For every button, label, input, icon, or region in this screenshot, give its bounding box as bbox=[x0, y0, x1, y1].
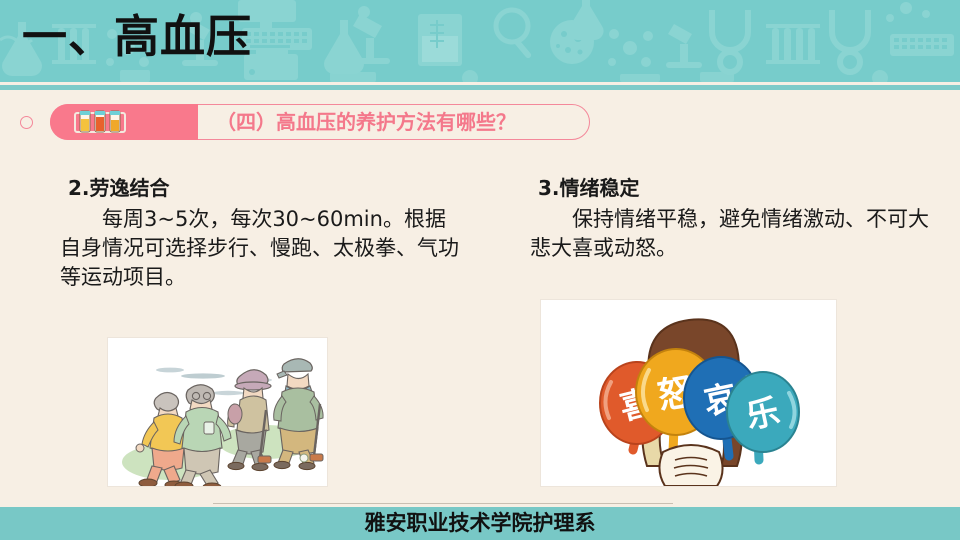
emotion-balloons-illustration: 喜 怒 哀 乐 bbox=[541, 300, 836, 486]
slide-canvas: 一、高血压 （四）高血压的养护方法有哪些？ 2.劳逸结合 每周3~5次，每次30… bbox=[0, 0, 960, 540]
content-column-left: 2.劳逸结合 每周3~5次，每次30~60min。根据自身情况可选择步行、慢跑、… bbox=[60, 172, 460, 292]
pill-bullet-dot bbox=[20, 116, 33, 129]
left-heading: 2.劳逸结合 bbox=[68, 172, 460, 201]
footer-text: 雅安职业技术学院护理系 bbox=[0, 507, 960, 540]
left-body-text: 每周3~5次，每次30~60min。根据自身情况可选择步行、慢跑、太极拳、气功等… bbox=[60, 205, 460, 292]
footer-divider bbox=[213, 503, 673, 504]
right-body-text: 保持情绪平稳，避免情绪激动、不可大悲大喜或动怒。 bbox=[530, 205, 930, 263]
pill-icon-block bbox=[50, 104, 198, 140]
test-tube-rack-icon bbox=[72, 110, 128, 135]
section-title-text: （四）高血压的养护方法有哪些？ bbox=[216, 104, 516, 140]
right-heading: 3.情绪稳定 bbox=[538, 172, 930, 201]
header-banner: 一、高血压 bbox=[0, 0, 960, 82]
page-title: 一、高血压 bbox=[22, 1, 252, 73]
header-accent-stripe bbox=[0, 85, 960, 90]
content-column-right: 3.情绪稳定 保持情绪平稳，避免情绪激动、不可大悲大喜或动怒。 bbox=[530, 172, 930, 263]
elderly-exercise-illustration bbox=[108, 338, 327, 486]
